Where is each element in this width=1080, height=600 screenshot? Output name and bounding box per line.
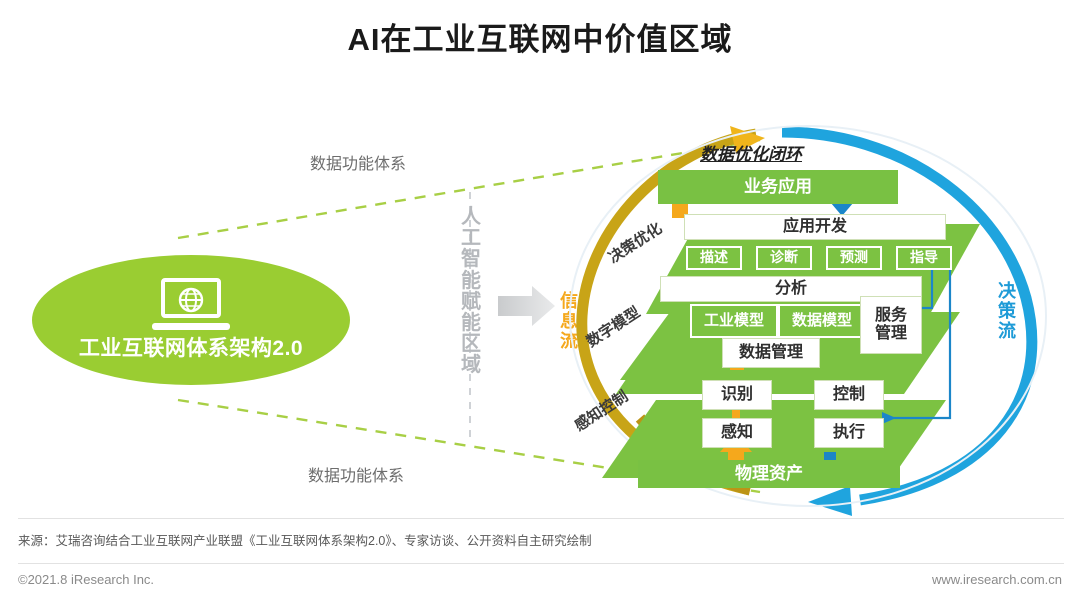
data-function-label-bottom: 数据功能体系 [308, 462, 404, 486]
node-sense[interactable]: 感知 [702, 418, 772, 448]
laptop-globe-icon [152, 278, 230, 330]
information-flow-arrow-icon [498, 284, 556, 328]
footer-divider-top [18, 518, 1064, 519]
node-stage-describe[interactable]: 描述 [686, 246, 742, 270]
node-control[interactable]: 控制 [814, 380, 884, 410]
node-app-development[interactable]: 应用开发 [684, 214, 946, 240]
node-stage-diagnose[interactable]: 诊断 [756, 246, 812, 270]
node-data-model[interactable]: 数据模型 [778, 304, 866, 338]
page-title: AI在工业互联网中价值区域 [0, 14, 1080, 59]
node-industrial-model[interactable]: 工业模型 [690, 304, 778, 338]
node-recognize[interactable]: 识别 [702, 380, 772, 410]
node-data-management[interactable]: 数据管理 [722, 338, 820, 368]
node-stage-guide[interactable]: 指导 [896, 246, 952, 270]
service-mgmt-line1: 服务 [875, 307, 907, 325]
blue-arrowhead [808, 486, 852, 516]
service-mgmt-line2: 管理 [875, 325, 907, 343]
left-node-label: 工业互联网体系架构2.0 [79, 332, 303, 362]
node-service-management[interactable]: 服务 管理 [860, 296, 922, 354]
node-execute[interactable]: 执行 [814, 418, 884, 448]
value-zone-diagram: 数据优化闭环 决策优化 数字模型 感知控制 业务应用 应用开发 描述 诊断 预测… [560, 118, 1060, 518]
data-function-label-top: 数据功能体系 [310, 150, 406, 174]
source-note: 来源：艾瑞咨询结合工业互联网产业联盟《工业互联网体系架构2.0》、专家访谈、公开… [18, 530, 592, 549]
closed-loop-title: 数据优化闭环 [700, 140, 802, 165]
slide-canvas: AI在工业互联网中价值区域 工业互联网体系架构2.0 数据功能体系 数据功能体系… [0, 0, 1080, 600]
node-physical-assets[interactable]: 物理资产 [638, 460, 900, 488]
copyright-text: ©2021.8 iResearch Inc. [18, 572, 154, 587]
node-business-app[interactable]: 业务应用 [658, 170, 898, 204]
industrial-internet-architecture-node[interactable]: 工业互联网体系架构2.0 [32, 255, 350, 385]
ai-enablement-zone-label: 人工智能赋能区域 [458, 207, 484, 377]
globe-icon [178, 287, 204, 313]
website-link[interactable]: www.iresearch.com.cn [932, 572, 1062, 587]
footer-divider-bottom [18, 563, 1064, 564]
node-stage-predict[interactable]: 预测 [826, 246, 882, 270]
